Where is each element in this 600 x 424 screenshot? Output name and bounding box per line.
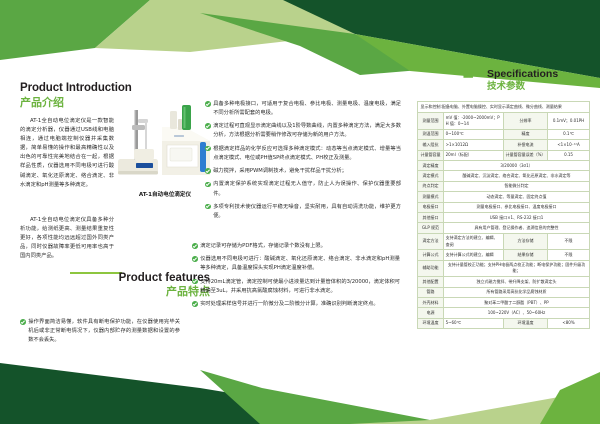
table-cell-value: 酸碱滴定、沉淀滴定、络合滴定、氧化还原滴定、非水滴定等: [444, 171, 590, 181]
table-row: 管路所有管路采用高抗化学品腐蚀材质: [418, 287, 590, 297]
list-item: 滴定过程可直观显示滴定曲线以及1阶导数曲线，内置多种滴定方法，满足大多数分析，方…: [205, 122, 401, 140]
deco-shape-bottom-light: [350, 395, 600, 424]
list-item-text: 具备多种电极接口，可适用于复合电极、参比电极、测量电极、温度电极，满足不同分析所…: [213, 100, 401, 118]
product-features-heading-en: Product features: [70, 272, 210, 285]
check-circle-icon: [192, 243, 198, 249]
table-cell-label: GLP 规范: [418, 223, 444, 233]
table-row: 滴定精度3/20000（3σ1）: [418, 160, 590, 170]
table-note-cell: 显示和控制:配备电脑、外置电脑操控、实时显示滴定曲线、微分曲线、测量结果: [418, 102, 590, 113]
specifications-heading: Specifications 技术参数: [487, 68, 558, 93]
list-item-text: 操作界面简洁易懂，软件具有断电保护功能，在仪器使用完毕关机后或非正常断电情况下，…: [28, 318, 180, 345]
burette-cylinder: [170, 111, 177, 129]
brochure-page: Product Introduction 产品介绍 AT-1全自动电位滴定仪是一…: [0, 0, 600, 424]
table-cell-label: 其他配置: [418, 277, 444, 287]
list-item: 内置滴定保护系统实现滴定过程无人值守，防止人为误操作、保护仪器重要部件。: [205, 180, 401, 198]
deco-shape-bottom-accent: [540, 372, 600, 424]
table-cell-value: 所有管路采用高抗化学品腐蚀材质: [444, 287, 590, 297]
table-row: 测温范围0~100℃精度0.1℃: [418, 129, 590, 139]
table-cell-label-2: 精度: [504, 129, 548, 139]
list-item: 磁力搅拌，采用PWM调制技术，避免干扰样品干扰分析；: [205, 167, 401, 176]
table-cell-value: mV 值：-2000~2000mV；PH 值：0~14: [444, 113, 504, 130]
table-cell-label: 电极接口: [418, 202, 444, 212]
check-circle-icon: [192, 301, 198, 307]
table-row: 辅助功能支持计量管校正功能；支持PH电极两点校正功能；断电保护功能；固件升级功能…: [418, 260, 590, 277]
features-list-left: 操作界面简洁易懂，软件具有断电保护功能，在仪器使用完毕关机后或非正常断电情况下，…: [20, 318, 180, 349]
table-cell-label: 测量模式: [418, 192, 444, 202]
green-cylinder: [182, 105, 191, 130]
table-cell-label: 环境温度: [418, 318, 444, 328]
small-cylinder: [178, 119, 182, 130]
table-cell-label-2: 分辨率: [504, 113, 548, 130]
product-introduction-heading-en: Product Introduction: [20, 82, 180, 95]
table-cell-value: USB 接口×1、RS-232 接口1: [444, 212, 590, 222]
table-cell-value: 智能微分判定: [444, 181, 590, 191]
table-cell-label: 计量管容量: [418, 150, 444, 160]
product-features-heading-cn: 产品特点: [70, 286, 210, 299]
deco-shape-bottom-mid: [200, 370, 600, 424]
table-cell-label-2: 方法存储: [504, 233, 548, 250]
table-cell-value-2: 不限: [548, 250, 590, 260]
list-item: 仪器选用不同电极可进行：酸碱滴定、氧化还原滴定、络合滴定、非水滴定和pH测量等多…: [192, 255, 400, 273]
table-cell-label-2: 计量管容量误差（%）: [504, 150, 548, 160]
table-cell-value-2: <1×10⁻¹²A: [548, 140, 590, 150]
table-cell-label: 辅助功能: [418, 260, 444, 277]
deco-shape-bottom-dark: [0, 363, 420, 424]
list-item: 根据滴定样品的化学反应可选择多种滴定模式：动态等当点滴定模式、增量等当点滴定模式…: [205, 145, 401, 163]
table-row: 其他接口USB 接口×1、RS-232 接口1: [418, 212, 590, 222]
table-cell-value: 5~60℃: [444, 318, 504, 328]
table-row: 环境温度5~60℃环境湿度<80%: [418, 318, 590, 328]
table-row: GLP 规范具有用户管理、登记操作者、追溯信息的完整性: [418, 223, 590, 233]
table-row: 测量模式动态滴定、等量滴定、固定终点值: [418, 192, 590, 202]
table-cell-label-2: 结果存储: [504, 250, 548, 260]
table-cell-value-2: 不限: [548, 233, 590, 250]
features-list-right-top: 具备多种电极接口，可适用于复合电极、参比电极、测量电极、温度电极，满足不同分析所…: [205, 100, 401, 225]
list-item-text: 多项专利技术使仪器运行平稳无噪音，坚实耐用，具有自动清洗功能，维护更方便。: [213, 203, 401, 221]
table-cell-label: 测温范围: [418, 129, 444, 139]
table-cell-label: 计算公式: [418, 250, 444, 260]
table-cell-label-2: 补偿电流: [504, 140, 548, 150]
table-row: 电源100~220V（AC）、50~60Hz: [418, 308, 590, 318]
list-item: 具备多种电极接口，可适用于复合电极、参比电极、测量电极、温度电极，满足不同分析所…: [205, 100, 401, 118]
table-cell-value: 动态滴定、等量滴定、固定终点值: [444, 192, 590, 202]
table-cell-label: 管路: [418, 287, 444, 297]
product-introduction-paragraph: AT-1全自动电位滴定仪是一款智能的滴定分析器，仪器通过USB线和电脑相连，通过…: [20, 117, 114, 190]
table-cell-value: 测量电极接口、参比电极接口、温度电极接口: [444, 202, 590, 212]
table-cell-label: 电源: [418, 308, 444, 318]
table-cell-value-2: 0.15: [548, 150, 590, 160]
table-cell-label: 外壳材料: [418, 298, 444, 308]
table-row: 滴定方法支持滴定方法的建立、编辑、查阅方法存储不限: [418, 233, 590, 250]
table-cell-label: 滴定方法: [418, 233, 444, 250]
list-item: 支持20mL滴定管，滴定控制可使最小进液量达到计量管体积的3/20000，滴定体…: [192, 278, 400, 296]
table-cell-value: >1×1012Ω: [444, 140, 504, 150]
list-item: 多项专利技术使仪器运行平稳无噪音，坚实耐用，具有自动清洗功能，维护更方便。: [205, 203, 401, 221]
list-item-text: 支持20mL滴定管，滴定控制可使最小进液量达到计量管体积的3/20000，滴定体…: [200, 278, 400, 296]
list-item-text: 磁力搅拌，采用PWM调制技术，避免干扰样品干扰分析；: [213, 167, 347, 176]
table-row: 计量管容量20ml（标配）计量管容量误差（%）0.15: [418, 150, 590, 160]
specifications-heading-en: Specifications: [487, 68, 558, 80]
deco-shape-top-light: [95, 0, 600, 52]
table-row: 滴定模式酸碱滴定、沉淀滴定、络合滴定、氧化还原滴定、非水滴定等: [418, 171, 590, 181]
list-item: 实时处理采样信号并进行一阶微分及二阶微分计算，准确识别判断滴定终点。: [192, 300, 400, 309]
list-item-text: 根据滴定样品的化学反应可选择多种滴定模式：动态等当点滴定模式、增量等当点滴定模式…: [213, 145, 401, 163]
table-row: 计算公式支持计算公式的建立、编辑结果存储不限: [418, 250, 590, 260]
product-photo: [112, 97, 218, 189]
check-circle-icon: [205, 204, 211, 210]
table-cell-value: 支持滴定方法的建立、编辑、查阅: [444, 233, 504, 250]
table-cell-value: 具有用户管理、登记操作者、追溯信息的完整性: [444, 223, 590, 233]
check-circle-icon: [205, 182, 211, 188]
specifications-table: 显示和控制:配备电脑、外置电脑操控、实时显示滴定曲线、微分曲线、测量结果测量范围…: [417, 101, 590, 329]
deco-shape-top-mid2: [200, 13, 420, 75]
list-item: 滴定记录可存储为PDF格式，存储记录个数没有上限。: [192, 242, 400, 251]
list-item-text: 仪器选用不同电极可进行：酸碱滴定、氧化还原滴定、络合滴定、非水滴定和pH测量等多…: [200, 255, 400, 273]
check-circle-icon: [205, 168, 211, 174]
check-circle-icon: [20, 319, 26, 325]
check-circle-icon: [205, 101, 211, 107]
table-row: 测量范围mV 值：-2000~2000mV；PH 值：0~14分辨率0.1mV；…: [418, 113, 590, 130]
table-cell-value: 3/20000（3σ1）: [444, 160, 590, 170]
table-cell-label: 滴定精度: [418, 160, 444, 170]
table-cell-label: 其他接口: [418, 212, 444, 222]
list-item-text: 内置滴定保护系统实现滴定过程无人值守，防止人为误操作、保护仪器重要部件。: [213, 180, 401, 198]
product-photo-caption: AT-1自动电位滴定仪: [112, 190, 218, 198]
check-circle-icon: [192, 256, 198, 262]
deco-shape-top-mid3: [355, 34, 600, 88]
table-row: 外壳材料聚对苯二甲酸丁二醇酯（PBT）、PP: [418, 298, 590, 308]
list-item-text: 实时处理采样信号并进行一阶微分及二阶微分计算，准确识别判断滴定终点。: [200, 300, 379, 309]
check-circle-icon: [205, 146, 211, 152]
table-cell-label: 输入阻抗: [418, 140, 444, 150]
deco-shape-top-left-mid: [0, 0, 150, 60]
specifications-heading-cn: 技术参数: [487, 81, 558, 93]
table-row: 电极接口测量电极接口、参比电极接口、温度电极接口: [418, 202, 590, 212]
table-cell-value: 支持计量管校正功能；支持PH电极两点校正功能；断电保护功能；固件升级功能；: [444, 260, 590, 277]
table-cell-label: 终点判定: [418, 181, 444, 191]
features-list-bottom: 滴定记录可存储为PDF格式，存储记录个数没有上限。 仪器选用不同电极可进行：酸碱…: [192, 242, 400, 313]
product-introduction-tail-paragraph: AT-1全自动电位滴定仪具备多种分析功能，给测纸更高、测量结果重复性更好，各项性…: [20, 216, 114, 261]
list-item-text: 滴定过程可直观显示滴定曲线以及1阶导数曲线，内置多种滴定方法，满足大多数分析，方…: [213, 122, 401, 140]
table-row: 输入阻抗>1×1012Ω补偿电流<1×10⁻¹²A: [418, 140, 590, 150]
panel-display: [170, 148, 192, 161]
check-circle-icon: [205, 123, 211, 129]
list-item: 操作界面简洁易懂，软件具有断电保护功能，在仪器使用完毕关机后或非正常断电情况下，…: [20, 318, 180, 345]
table-cell-value-2: 0.1℃: [548, 129, 590, 139]
table-cell-value-2: 0.1mV；0.01PH: [548, 113, 590, 130]
table-row: 其他配置独立式磁力搅拌、带升降支架、防扩散滴定头: [418, 277, 590, 287]
table-row: 显示和控制:配备电脑、外置电脑操控、实时显示滴定曲线、微分曲线、测量结果: [418, 102, 590, 113]
table-cell-value: 20ml（标配）: [444, 150, 504, 160]
table-cell-value: 聚对苯二甲酸丁二醇酯（PBT）、PP: [444, 298, 590, 308]
table-cell-value: 支持计算公式的建立、编辑: [444, 250, 504, 260]
table-cell-value: 100~220V（AC）、50~60Hz: [444, 308, 590, 318]
list-item-text: 滴定记录可存储为PDF格式，存储记录个数没有上限。: [200, 242, 326, 251]
table-row: 终点判定智能微分判定: [418, 181, 590, 191]
table-cell-value-2: <80%: [548, 318, 590, 328]
table-cell-value: 独立式磁力搅拌、带升降支架、防扩散滴定头: [444, 277, 590, 287]
table-cell-value: 0~100℃: [444, 129, 504, 139]
product-features-heading: Product features 产品特点: [70, 272, 210, 299]
check-circle-icon: [192, 279, 198, 285]
table-cell-label-2: 环境湿度: [504, 318, 548, 328]
table-cell-label: 滴定模式: [418, 171, 444, 181]
clamp: [132, 125, 145, 130]
beaker: [134, 149, 154, 164]
deco-shape-top-dark: [283, 0, 600, 78]
quote-mark-icon: ❝: [462, 70, 474, 88]
table-cell-label: 测量范围: [418, 113, 444, 130]
